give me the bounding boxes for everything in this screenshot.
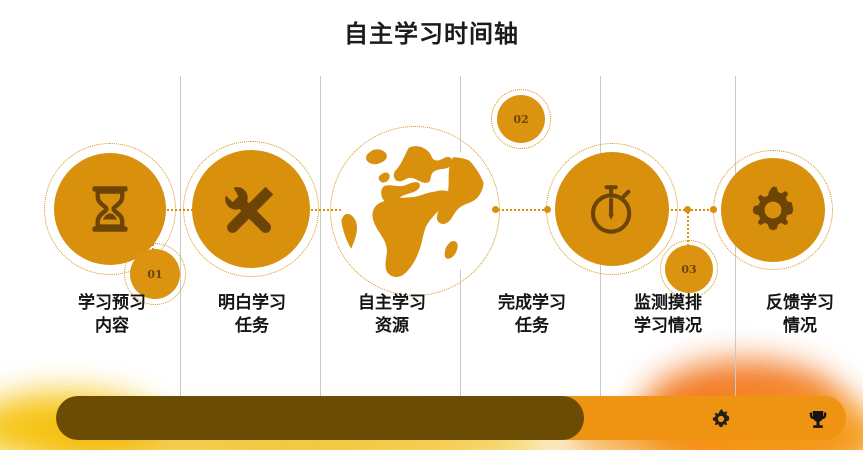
progress-bar-fill	[56, 396, 584, 440]
column-divider	[320, 76, 321, 428]
step-3-caption: 自主学习 资源	[325, 292, 459, 338]
connector-node	[684, 206, 691, 213]
step-6-icon-circle[interactable]	[721, 158, 825, 262]
connector-3-5	[495, 209, 547, 211]
tools-icon	[220, 178, 282, 240]
badge-03: 03	[665, 245, 713, 293]
hourglass-icon	[82, 181, 138, 237]
step-4-caption: 完成学习 任务	[465, 292, 599, 338]
step-5-icon-circle[interactable]	[555, 152, 669, 266]
column-divider	[180, 76, 181, 428]
step-2-caption: 明白学习 任务	[186, 292, 318, 338]
slide-canvas: 自主学习时间轴 01 学习预习 内容	[0, 0, 863, 450]
step-5-caption: 监测摸排 学习情况	[602, 292, 734, 338]
gear-icon	[746, 183, 800, 237]
step-3-icon-globe[interactable]	[336, 132, 494, 290]
badge-02: 02	[497, 95, 545, 143]
page-title: 自主学习时间轴	[0, 14, 863, 49]
stopwatch-icon	[583, 180, 641, 238]
step-1-caption: 学习预习 内容	[42, 292, 182, 338]
globe-icon	[336, 132, 494, 290]
step-2-icon-circle[interactable]	[192, 150, 310, 268]
footer-trophy-icon[interactable]	[806, 408, 828, 430]
footer-gear-icon[interactable]	[710, 408, 732, 430]
step-6-caption: 反馈学习 情况	[740, 292, 860, 338]
